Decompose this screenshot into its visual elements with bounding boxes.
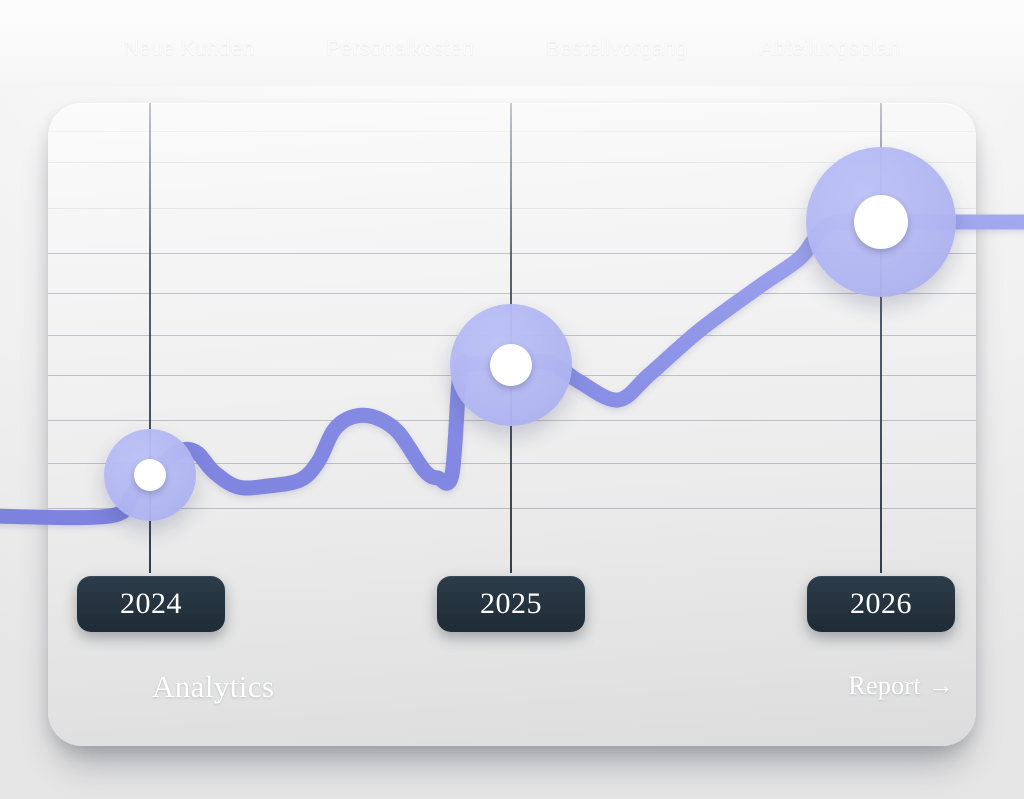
gridline xyxy=(48,508,976,509)
screen-root: Neue Kunden Personalkosten Bestellvorgan… xyxy=(0,0,1024,799)
nav-item-personalkosten[interactable]: Personalkosten xyxy=(326,37,474,61)
gridline xyxy=(48,131,976,132)
gridline xyxy=(48,293,976,294)
card-footer-title: Analytics xyxy=(152,669,274,705)
year-pill-2025[interactable]: 2025 xyxy=(437,576,585,632)
top-navigation-bar: Neue Kunden Personalkosten Bestellvorgan… xyxy=(0,0,1024,86)
report-link[interactable]: Report → xyxy=(848,671,954,701)
data-point-marker-2025[interactable] xyxy=(450,304,572,426)
marker-dot xyxy=(490,344,532,386)
data-point-marker-2024[interactable] xyxy=(104,429,196,521)
year-pill-2024-label: 2024 xyxy=(120,587,182,621)
nav-item-bestellvorgang[interactable]: Bestellvorgang xyxy=(546,37,688,61)
data-point-marker-2026[interactable] xyxy=(806,147,956,297)
nav-item-neue-kunden[interactable]: Neue Kunden xyxy=(124,37,255,61)
marker-dot xyxy=(134,459,166,491)
year-pill-2024[interactable]: 2024 xyxy=(77,576,225,632)
year-pill-2026[interactable]: 2026 xyxy=(807,576,955,632)
marker-dot xyxy=(854,195,908,249)
year-pill-2025-label: 2025 xyxy=(480,587,542,621)
year-pill-2026-label: 2026 xyxy=(850,587,912,621)
nav-item-abteilungsplan[interactable]: Abteilungsplan xyxy=(760,37,901,61)
